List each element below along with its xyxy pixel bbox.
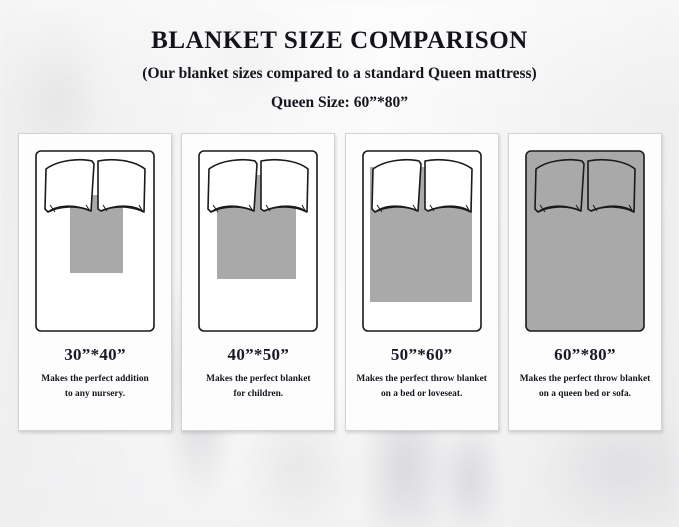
pillow-left xyxy=(45,160,94,212)
size-description-line-1: Makes the perfect addition xyxy=(41,374,149,384)
size-description-line-1: Makes the perfect blanket xyxy=(206,374,310,384)
size-description: Makes the perfect additionto any nursery… xyxy=(23,372,167,401)
page-subtitle: (Our blanket sizes compared to a standar… xyxy=(0,66,679,82)
pillow-left xyxy=(372,160,421,212)
heading-block: BLANKET SIZE COMPARISON (Our blanket siz… xyxy=(0,0,679,110)
bed-illustration xyxy=(28,143,162,339)
pillow-left xyxy=(208,160,257,212)
size-label: 40”*50” xyxy=(228,346,290,363)
pillow-right xyxy=(98,160,145,212)
bed-illustration-wrap xyxy=(355,143,489,339)
size-description-line-2: on a queen bed or sofa. xyxy=(513,387,657,402)
size-card[interactable]: 40”*50”Makes the perfect blanketfor chil… xyxy=(181,133,335,431)
bed-illustration xyxy=(355,143,489,339)
pillow-right xyxy=(261,160,308,212)
pillow-right xyxy=(588,160,635,212)
size-card-list: 30”*40”Makes the perfect additionto any … xyxy=(18,133,662,431)
bed-illustration-wrap xyxy=(191,143,325,339)
size-description: Makes the perfect blanketfor children. xyxy=(186,372,330,401)
pillow-left xyxy=(535,160,584,212)
queen-size-note: Queen Size: 60”*80” xyxy=(0,95,679,111)
size-description-line-2: for children. xyxy=(186,387,330,402)
pillow-right xyxy=(425,160,472,212)
size-label: 50”*60” xyxy=(391,346,453,363)
size-description-line-1: Makes the perfect throw blanket xyxy=(356,374,487,384)
size-card[interactable]: 50”*60”Makes the perfect throw blanketon… xyxy=(345,133,499,431)
size-description-line-2: to any nursery. xyxy=(23,387,167,402)
size-card[interactable]: 60”*80”Makes the perfect throw blanketon… xyxy=(508,133,662,431)
size-description-line-2: on a bed or loveseat. xyxy=(350,387,494,402)
size-label: 60”*80” xyxy=(554,346,616,363)
size-description: Makes the perfect throw blanketon a bed … xyxy=(350,372,494,401)
size-description: Makes the perfect throw blanketon a quee… xyxy=(513,372,657,401)
size-description-line-1: Makes the perfect throw blanket xyxy=(520,374,651,384)
page-title: BLANKET SIZE COMPARISON xyxy=(0,28,679,53)
bed-illustration-wrap xyxy=(518,143,652,339)
bed-illustration-wrap xyxy=(28,143,162,339)
size-label: 30”*40” xyxy=(64,346,126,363)
bed-illustration xyxy=(191,143,325,339)
bed-illustration xyxy=(518,143,652,339)
size-card[interactable]: 30”*40”Makes the perfect additionto any … xyxy=(18,133,172,431)
